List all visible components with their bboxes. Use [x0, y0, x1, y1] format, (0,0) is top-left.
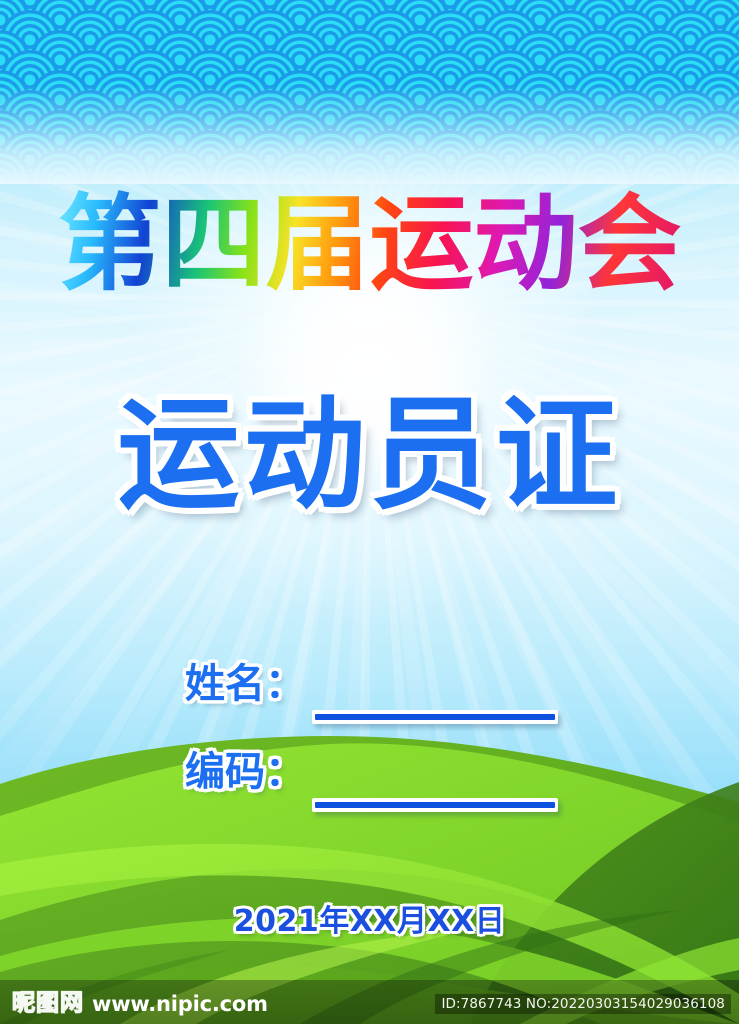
nipic-brand[interactable]: 昵图网 www.nipic.com: [12, 992, 268, 1015]
wave-fade-overlay: [0, 0, 739, 184]
name-field-label: 姓名：: [185, 664, 305, 704]
document-title: 运动员证: [0, 394, 739, 516]
event-title: 第四届运动会 第四届运动会: [0, 188, 739, 300]
code-field-label: 编码：: [185, 752, 305, 792]
event-title-text: 第四届运动会: [57, 183, 681, 305]
name-field-row: 姓名：: [185, 664, 305, 704]
code-field-writing-line[interactable]: [312, 798, 558, 812]
name-field-writing-line[interactable]: [312, 710, 558, 724]
code-field-row: 编码：: [185, 752, 305, 792]
nipic-url-text: www.nipic.com: [92, 994, 268, 1015]
date-text: 2021年XX月XX日: [0, 896, 739, 940]
nipic-logo-text: 昵图网: [12, 992, 84, 1015]
poster-canvas: 第四届运动会 第四届运动会 运动员证: [0, 0, 739, 1024]
watermark-id-badge: ID:7867743 NO:20220303154029036108: [435, 994, 731, 1014]
watermark-footer: 昵图网 www.nipic.com ID:7867743 NO:20220303…: [0, 980, 739, 1024]
green-hills-illustration: [0, 724, 739, 1024]
seigaiha-wave-pattern: [0, 0, 739, 184]
